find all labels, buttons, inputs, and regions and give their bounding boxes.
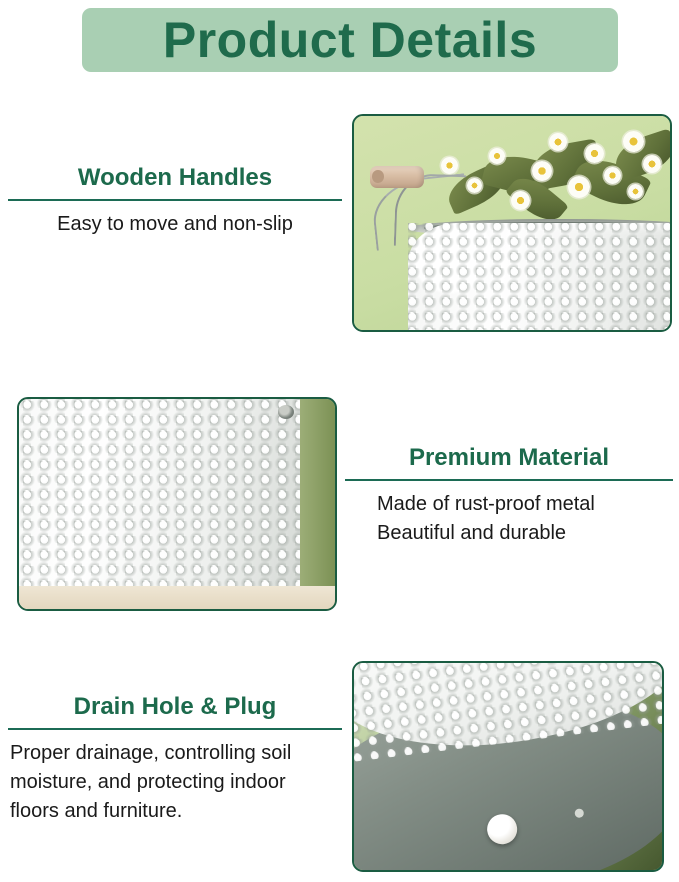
section-divider-3 xyxy=(8,728,342,730)
hammered-texture xyxy=(17,397,300,605)
wooden-handle-grip xyxy=(370,166,424,187)
daisy-flower-icon xyxy=(643,155,661,173)
body-line: moisture, and protecting indoor xyxy=(10,768,342,797)
daisy-bouquet xyxy=(436,125,672,232)
photo-content-2 xyxy=(19,399,335,609)
section-divider-1 xyxy=(8,199,342,201)
base-highlight xyxy=(574,808,584,818)
daisy-flower-icon xyxy=(549,133,567,151)
photo-content-3 xyxy=(354,663,662,870)
planter-wall xyxy=(17,397,300,605)
table-surface xyxy=(19,586,335,609)
daisy-flower-icon xyxy=(511,191,530,210)
section-body-premium-material: Made of rust-proof metal Beautiful and d… xyxy=(345,490,673,548)
section-body-drain-hole-plug: Proper drainage, controlling soil moistu… xyxy=(8,739,342,826)
photo-content-1 xyxy=(354,116,670,330)
hammered-texture-closeup-photo xyxy=(17,397,337,611)
body-line: Made of rust-proof metal xyxy=(377,490,673,519)
section-body-wooden-handles: Easy to move and non-slip xyxy=(8,210,342,239)
daisy-flower-icon xyxy=(585,144,604,163)
daisy-flower-icon xyxy=(441,157,458,174)
section-divider-2 xyxy=(345,479,673,481)
section-heading-premium-material: Premium Material xyxy=(345,443,673,473)
body-line: Easy to move and non-slip xyxy=(8,210,342,239)
section-heading-drain-hole-plug: Drain Hole & Plug xyxy=(8,692,342,722)
body-line: floors and furniture. xyxy=(10,797,342,826)
page-title: Product Details xyxy=(82,8,618,72)
drain-plug-icon xyxy=(486,813,519,846)
section-wooden-handles-text: Wooden Handles Easy to move and non-slip xyxy=(8,163,342,239)
section-drain-hole-text: Drain Hole & Plug Proper drainage, contr… xyxy=(8,692,342,826)
body-line: Proper drainage, controlling soil xyxy=(10,739,342,768)
body-line: Beautiful and durable xyxy=(377,519,673,548)
product-details-page: Product Details Wooden Handles Easy to m… xyxy=(0,0,679,882)
daisy-flower-icon xyxy=(568,176,590,198)
section-heading-wooden-handles: Wooden Handles xyxy=(8,163,342,193)
section-premium-material-text: Premium Material Made of rust-proof meta… xyxy=(345,443,673,548)
planter-with-daisies-photo xyxy=(352,114,672,332)
daisy-flower-icon xyxy=(489,148,505,164)
drain-plug-base-photo xyxy=(352,661,664,872)
